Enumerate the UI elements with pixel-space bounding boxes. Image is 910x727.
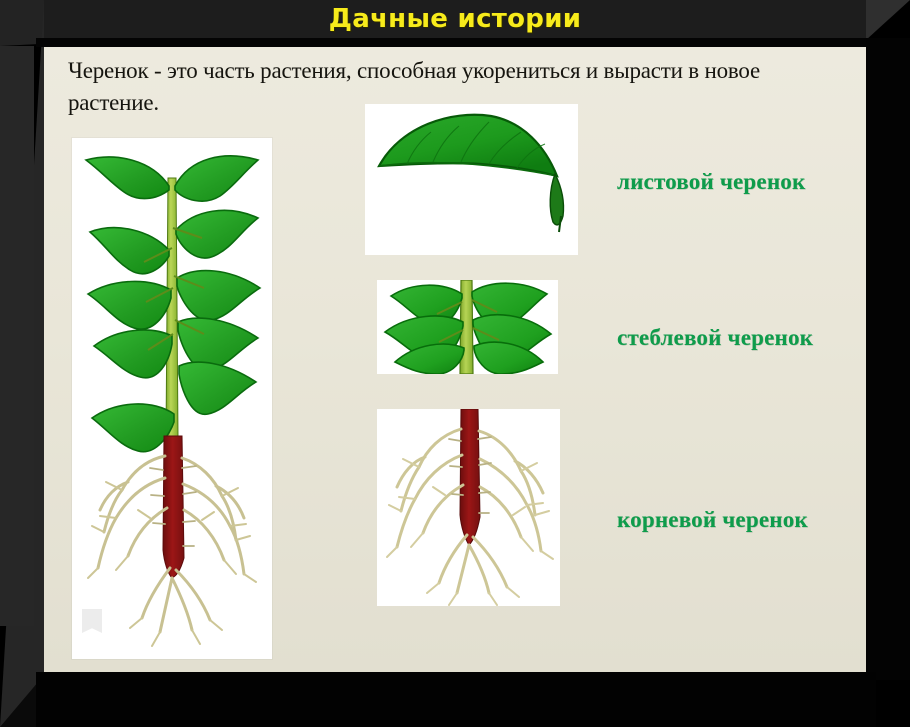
root-cutting-illustration [377,409,560,606]
slide-root: Дачные истории Черенок - это часть расте… [0,0,910,727]
figure-root-cutting [377,409,560,606]
slide-title: Дачные истории [329,4,582,34]
title-bar: Дачные истории [44,0,866,38]
figure-whole-plant [72,138,272,659]
label-leaf-cutting: листовой черенок [617,169,805,195]
frame-inner-left [0,46,34,626]
frame-inset-bottom [36,672,876,727]
figure-stem-cutting [377,280,558,374]
frame-inset-top [36,38,868,47]
leaf-cutting-illustration [365,104,578,255]
figure-leaf-cutting [365,104,578,255]
frame-bevel-corner-top-right [866,0,910,40]
whole-plant-illustration [72,138,272,659]
label-stem-cutting: стеблевой черенок [617,325,813,351]
frame-inset-right [866,38,910,680]
content-panel: Черенок - это часть растения, способная … [44,47,866,672]
stem-cutting-illustration [377,280,558,374]
label-root-cutting: корневой черенок [617,507,808,533]
